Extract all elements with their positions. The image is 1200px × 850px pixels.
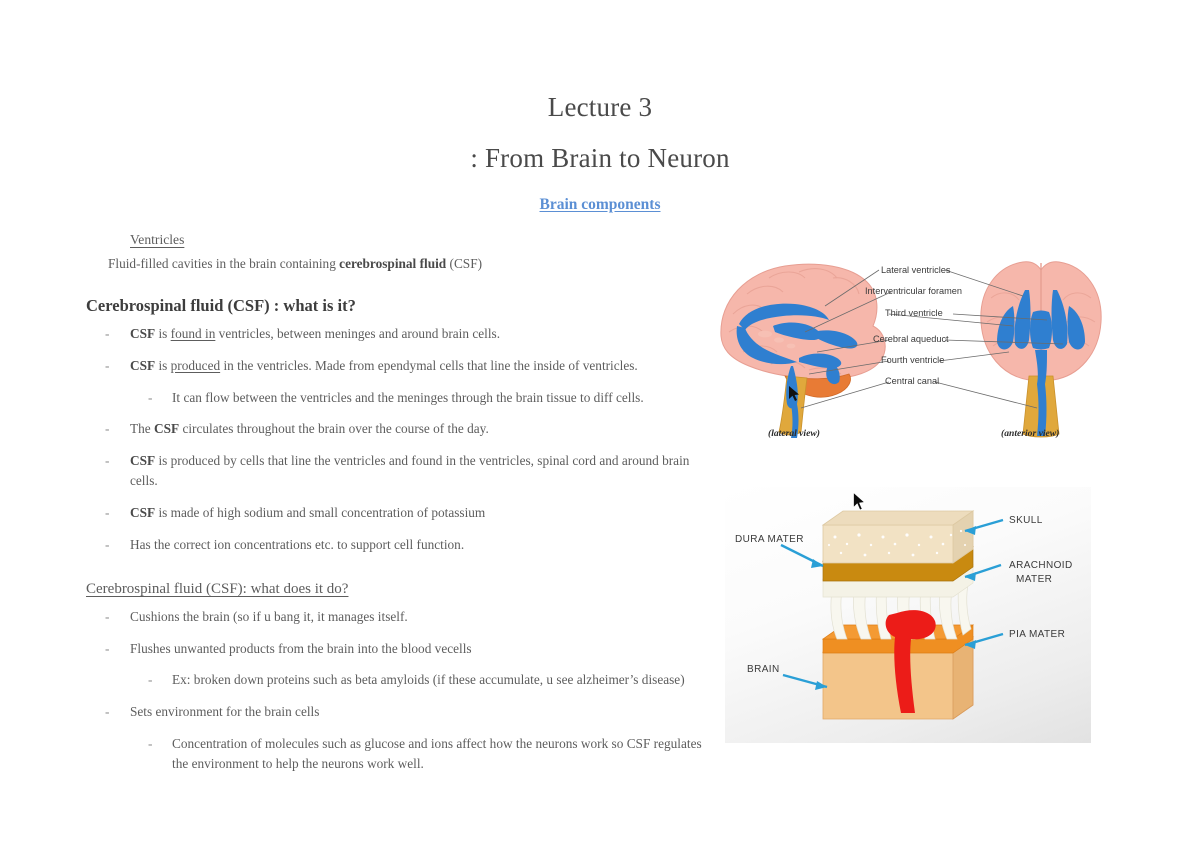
bullet-item: -CSF is made of high sodium and small co…: [86, 503, 711, 524]
bullet-text: in the ventricles. Made from ependymal c…: [220, 358, 638, 373]
bullet-item: -Sets environment for the brain cells: [86, 702, 711, 723]
label-fourth-ventricle: Fourth ventricle: [881, 355, 944, 365]
brain-components-link[interactable]: Brain components: [0, 196, 1200, 214]
bullet-dash: -: [148, 670, 152, 691]
label-interventricular-foramen: Interventricular foramen: [865, 286, 962, 296]
bullet-dash: -: [105, 607, 109, 628]
document-title-line-1: Lecture 3: [0, 92, 1200, 123]
ventricles-svg: Lateral ventricles Interventricular fora…: [713, 248, 1105, 446]
caption-lateral-view: (lateral view): [768, 428, 820, 439]
document-title-line-2: : From Brain to Neuron: [0, 143, 1200, 174]
bullet-text: is: [155, 326, 171, 341]
figure-ventricles-diagram: Lateral ventricles Interventricular fora…: [713, 248, 1105, 446]
bullet-item: -CSF is produced by cells that line the …: [86, 451, 711, 492]
bullet-text: Has the correct ion concentrations etc. …: [130, 537, 464, 552]
bullet-dash: -: [105, 356, 109, 377]
bullet-text: is made of high sodium and small concent…: [155, 505, 485, 520]
bullet-dash: -: [105, 639, 109, 660]
label-third-ventricle: Third ventricle: [885, 308, 943, 318]
bullet-item: -Ex: broken down proteins such as beta a…: [86, 670, 711, 691]
ventricles-subheading: Ventricles: [130, 233, 711, 247]
bullet-underlined-text: found in: [171, 326, 216, 341]
bullet-text: ventricles, between meninges and around …: [215, 326, 500, 341]
notes-text-column: Ventricles Fluid-filled cavities in the …: [86, 233, 711, 786]
section-heading-what-is-it: Cerebrospinal fluid (CSF) : what is it?: [86, 298, 711, 315]
label-dura-mater: DURA MATER: [735, 534, 804, 545]
meninges-svg: SKULL ARACHNOID MATER PIA MATER DURA MAT…: [725, 487, 1091, 743]
document-page: Lecture 3 : From Brain to Neuron Brain c…: [0, 0, 1200, 850]
bullet-text: Cushions the brain (so if u bang it, it …: [130, 609, 408, 624]
bullet-dash: -: [105, 324, 109, 345]
bullet-dash: -: [105, 702, 109, 723]
lateral-view-brain: [721, 264, 885, 438]
bullet-text: is produced by cells that line the ventr…: [130, 453, 689, 489]
ventricles-description-bold: cerebrospinal fluid: [339, 256, 446, 271]
label-central-canal: Central canal: [885, 376, 939, 386]
figure-meninges-diagram: SKULL ARACHNOID MATER PIA MATER DURA MAT…: [725, 487, 1091, 743]
bullet-bold-text: CSF: [130, 326, 155, 341]
ventricles-description-post: (CSF): [446, 256, 482, 271]
label-skull: SKULL: [1009, 515, 1043, 526]
ventricle-captions: (lateral view) (anterior view): [768, 428, 1059, 439]
caption-anterior-view: (anterior view): [1001, 428, 1059, 439]
bullet-bold-text: CSF: [154, 421, 179, 436]
bullet-dash: -: [105, 451, 109, 472]
bullet-dash: -: [105, 419, 109, 440]
bullet-item: -It can flow between the ventricles and …: [86, 388, 711, 409]
bullet-underlined-text: produced: [171, 358, 220, 373]
label-lateral-ventricles: Lateral ventricles: [881, 265, 951, 275]
bullet-text: Flushes unwanted products from the brain…: [130, 641, 472, 656]
bullet-text: Concentration of molecules such as gluco…: [172, 736, 702, 772]
label-arachnoid-line2: MATER: [1016, 574, 1052, 585]
bullet-item: -CSF is produced in the ventricles. Made…: [86, 356, 711, 377]
bullet-item: -Concentration of molecules such as gluc…: [86, 734, 711, 775]
bullet-item: -Cushions the brain (so if u bang it, it…: [86, 607, 711, 628]
ventricles-description-pre: Fluid-filled cavities in the brain conta…: [108, 256, 339, 271]
bullet-bold-text: CSF: [130, 453, 155, 468]
bullet-item: -Flushes unwanted products from the brai…: [86, 639, 711, 660]
bullet-text: Ex: broken down proteins such as beta am…: [172, 672, 685, 687]
bullet-text: Sets environment for the brain cells: [130, 704, 319, 719]
label-brain: BRAIN: [747, 664, 780, 675]
bullet-item: -CSF is found in ventricles, between men…: [86, 324, 711, 345]
section-heading-what-does-it-do: Cerebrospinal fluid (CSF): what does it …: [86, 582, 711, 597]
bullet-dash: -: [105, 535, 109, 556]
bullet-item: -Has the correct ion concentrations etc.…: [86, 535, 711, 556]
bullet-text: circulates throughout the brain over the…: [179, 421, 489, 436]
bullet-dash: -: [148, 388, 152, 409]
bullet-text: The: [130, 421, 154, 436]
bullet-list-what-does-it-do: -Cushions the brain (so if u bang it, it…: [86, 607, 711, 775]
label-pia-mater: PIA MATER: [1009, 629, 1065, 640]
skull-block: [823, 511, 973, 563]
bullet-text: It can flow between the ventricles and t…: [172, 390, 644, 405]
bullet-list-what-is-it: -CSF is found in ventricles, between men…: [86, 324, 711, 555]
bullet-dash: -: [105, 503, 109, 524]
bullet-dash: -: [148, 734, 152, 755]
bullet-item: -The CSF circulates throughout the brain…: [86, 419, 711, 440]
bullet-bold-text: CSF: [130, 505, 155, 520]
bullet-text: is: [155, 358, 171, 373]
ventricles-description: Fluid-filled cavities in the brain conta…: [108, 257, 711, 270]
ventricle-labels: Lateral ventricles Interventricular fora…: [865, 265, 962, 386]
bullet-bold-text: CSF: [130, 358, 155, 373]
label-cerebral-aqueduct: Cerebral aqueduct: [873, 334, 949, 344]
label-arachnoid-line1: ARACHNOID: [1009, 560, 1073, 571]
